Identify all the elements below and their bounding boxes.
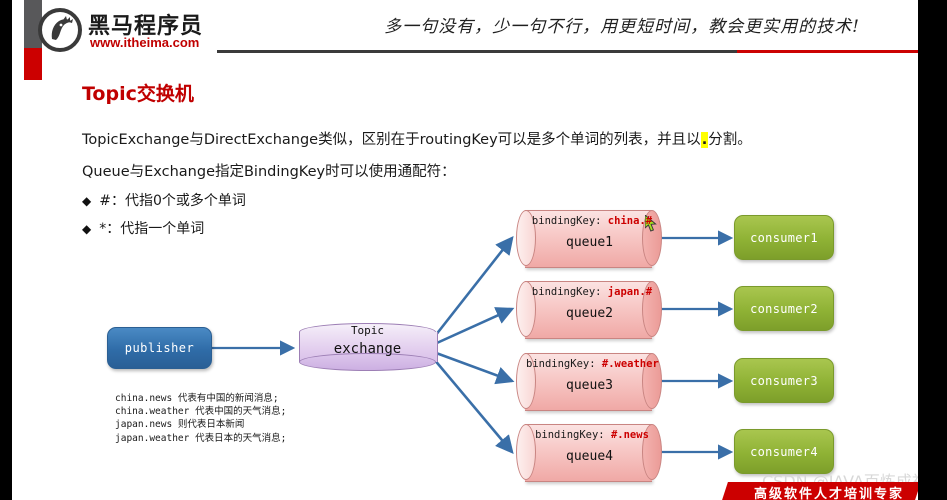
binding-key-label: bindingKey: — [532, 286, 602, 298]
topic-exchange-diagram: publisher Topic exchange bindingKey: chi… — [12, 0, 918, 500]
queue-node-3[interactable]: bindingKey: #.weather queue3 — [516, 353, 661, 409]
footer-banner-text: 高级软件人才培训专家 — [734, 483, 918, 500]
queue-node-1[interactable]: bindingKey: china.# queue1 — [516, 210, 661, 266]
binding-key-value: japan.# — [608, 286, 652, 298]
queue-name-3: queue3 — [526, 378, 653, 393]
consumer-node-3[interactable]: consumer3 — [734, 358, 834, 403]
binding-key-label: bindingKey: — [526, 358, 596, 370]
queue-name-2: queue2 — [526, 306, 653, 321]
consumer-node-1[interactable]: consumer1 — [734, 215, 834, 260]
queue-binding-key-3: bindingKey: #.weather — [526, 358, 658, 370]
queue-binding-key-1: bindingKey: china.# — [526, 215, 658, 227]
right-black-rail — [918, 0, 947, 500]
queue-name-4: queue4 — [526, 449, 653, 464]
binding-key-label: bindingKey: — [535, 429, 605, 441]
queue-node-2[interactable]: bindingKey: japan.# queue2 — [516, 281, 661, 337]
queue-node-4[interactable]: bindingKey: #.news queue4 — [516, 424, 661, 480]
topic-exchange-node[interactable]: Topic exchange — [299, 323, 436, 371]
exchange-name-label: exchange — [299, 341, 436, 357]
slide-page: 黑马程序员 www.itheima.com 多一句没有，少一句不行，用更短时间，… — [12, 0, 918, 500]
publisher-node[interactable]: publisher — [107, 327, 212, 369]
queue-binding-key-4: bindingKey: #.news — [526, 429, 658, 441]
left-black-rail — [0, 0, 12, 500]
queue-name-1: queue1 — [526, 235, 653, 250]
queue-binding-key-2: bindingKey: japan.# — [526, 286, 658, 298]
binding-key-value: china.# — [608, 215, 652, 227]
binding-key-label: bindingKey: — [532, 215, 602, 227]
binding-key-value: #.weather — [602, 358, 659, 370]
binding-key-value: #.news — [611, 429, 649, 441]
slide-screen: 黑马程序员 www.itheima.com 多一句没有，少一句不行，用更短时间，… — [0, 0, 947, 500]
consumer-node-2[interactable]: consumer2 — [734, 286, 834, 331]
exchange-type-label: Topic — [299, 324, 436, 337]
